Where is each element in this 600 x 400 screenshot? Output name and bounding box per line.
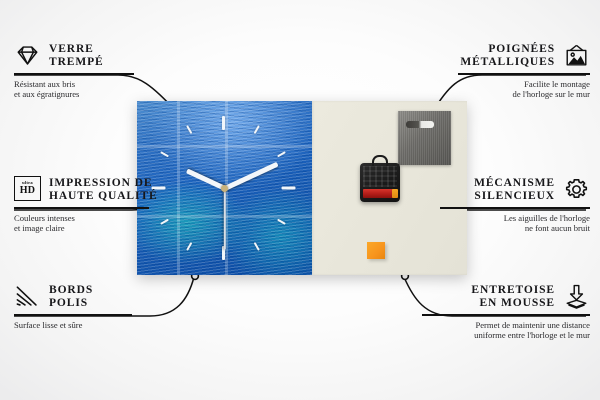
divider — [422, 314, 590, 316]
feature-subtitle: Résistant aux bris et aux égratignures — [14, 79, 154, 100]
clock-tick — [186, 242, 192, 251]
feature-title: MÉCANISME SILENCIEUX — [474, 177, 555, 203]
picture-hanger-icon — [563, 42, 590, 69]
product-image — [137, 101, 467, 275]
feature-poignees-metalliques: POIGNÉES MÉTALLIQUES Facilite le montage… — [434, 42, 590, 99]
battery — [363, 189, 395, 198]
clock-hand-cap — [221, 185, 228, 192]
clock-second-hand — [224, 188, 226, 250]
panel-seam — [177, 101, 180, 275]
clock-tick — [277, 151, 286, 157]
clock-tick — [160, 151, 169, 157]
feature-verre-trempe: VERRE TREMPÉ Résistant aux bris et aux é… — [14, 42, 154, 99]
infographic-canvas: VERRE TREMPÉ Résistant aux bris et aux é… — [0, 0, 600, 400]
clock-mechanism — [360, 163, 400, 202]
divider — [458, 73, 590, 75]
feature-subtitle: Surface lisse et sûre — [14, 320, 154, 330]
clock-tick — [282, 187, 296, 190]
feature-subtitle: Les aiguilles de l'horloge ne font aucun… — [425, 213, 590, 234]
feature-title: POIGNÉES MÉTALLIQUES — [460, 43, 555, 69]
ultra-hd-icon-bottom-label: HD — [20, 186, 36, 196]
feature-subtitle: Permet de maintenir une distance uniform… — [410, 320, 590, 341]
gear-icon — [563, 176, 590, 203]
clock-tick — [222, 116, 225, 130]
clock-minute-hand — [223, 161, 278, 190]
feature-impression-haute-qualite: ultra HD IMPRESSION DE HAUTE QUALITÉ Cou… — [14, 176, 164, 233]
divider — [14, 73, 134, 75]
feature-title: VERRE TREMPÉ — [49, 43, 104, 69]
ultra-hd-icon: ultra HD — [14, 176, 41, 203]
divider — [14, 314, 132, 316]
battery-terminal — [392, 189, 398, 198]
feature-bords-polis: BORDS POLIS Surface lisse et sûre — [14, 283, 154, 330]
press-layers-icon — [563, 283, 590, 310]
polished-edge-icon — [14, 283, 41, 310]
hanger-slot — [406, 121, 434, 128]
clock-hour-hand — [185, 168, 225, 190]
feature-subtitle: Facilite le montage de l'horloge sur le … — [434, 79, 590, 100]
clock-tick — [254, 125, 260, 134]
panel-seam — [137, 145, 312, 148]
diamond-icon — [14, 42, 41, 69]
foam-spacer — [367, 242, 385, 259]
mechanism-grid — [363, 166, 397, 187]
clock-tick — [277, 219, 286, 225]
feature-subtitle: Couleurs intenses et image claire — [14, 213, 164, 234]
feature-mecanisme-silencieux: MÉCANISME SILENCIEUX Les aiguilles de l'… — [425, 176, 590, 233]
mechanism-hanger-loop — [372, 155, 388, 166]
divider — [14, 207, 149, 209]
feature-title: IMPRESSION DE HAUTE QUALITÉ — [49, 177, 158, 203]
clock-tick — [254, 242, 260, 251]
hanger-plate — [398, 111, 451, 165]
feature-title: ENTRETOISE EN MOUSSE — [471, 284, 555, 310]
divider — [440, 207, 590, 209]
clock-tick — [186, 125, 192, 134]
feature-title: BORDS POLIS — [49, 284, 93, 310]
feature-entretoise-en-mousse: ENTRETOISE EN MOUSSE Permet de maintenir… — [410, 283, 590, 340]
